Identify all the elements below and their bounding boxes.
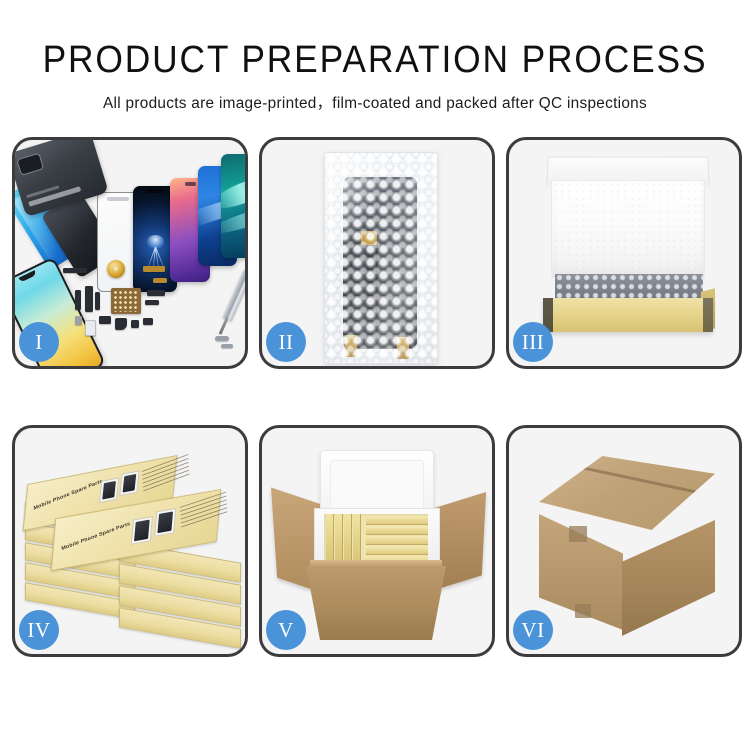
box-spec-lines <box>142 454 190 492</box>
step-panel-1: I <box>12 137 248 369</box>
yellow-box <box>366 536 428 545</box>
spare-part <box>95 292 100 310</box>
phone-teal-swirl <box>221 154 245 258</box>
spare-part <box>75 290 81 310</box>
spare-part-connector <box>85 320 96 336</box>
chip-ball-grid <box>113 290 139 312</box>
step-panel-6: VI <box>506 425 742 657</box>
box-label-text: Mobile Phone Spare Parts <box>61 521 130 552</box>
step-panel-3: III <box>506 137 742 369</box>
spare-part-flex <box>153 278 167 283</box>
carton-right-face <box>622 520 715 636</box>
carton-top-face <box>539 456 715 530</box>
step-badge-3: III <box>513 322 553 362</box>
bubble-wrap-bag <box>324 152 438 364</box>
phone-notch <box>18 270 36 282</box>
box-product-image <box>119 470 139 496</box>
header: PRODUCT PREPARATION PROCESS All products… <box>0 0 750 113</box>
spare-part <box>99 316 111 324</box>
spare-part-metal <box>75 316 82 325</box>
step-6-illustration: VI <box>509 428 739 654</box>
carton-body <box>306 566 446 640</box>
yellow-box <box>335 514 343 564</box>
yellow-box <box>353 514 361 564</box>
phone-back-shell <box>15 140 109 217</box>
box-label-text: Mobile Phone Spare Parts <box>33 478 102 511</box>
yellow-box <box>366 546 428 555</box>
spare-part <box>63 268 87 273</box>
page-subtitle: All products are image-printed，film-coat… <box>4 91 747 113</box>
carton-seam <box>568 464 706 496</box>
page-title: PRODUCT PREPARATION PROCESS <box>26 40 724 80</box>
step-3-illustration: III <box>509 140 739 366</box>
box-product-image <box>154 508 176 537</box>
yellow-box <box>366 516 428 525</box>
step-5-illustration: V <box>262 428 492 654</box>
yellow-box <box>366 526 428 535</box>
wallpaper-swoosh <box>221 205 245 238</box>
box-corner-tab <box>703 298 713 332</box>
yellow-box <box>326 514 334 564</box>
yellow-box <box>344 514 352 564</box>
box-product-image <box>99 477 119 503</box>
carton-tape-patch <box>569 526 587 542</box>
spare-part-screw <box>221 344 233 348</box>
spare-part-flex <box>143 266 165 272</box>
step-badge-5: V <box>266 610 306 650</box>
spare-part <box>131 320 139 328</box>
spare-part <box>143 318 153 325</box>
process-steps-grid: I II <box>12 137 738 689</box>
step-badge-4: IV <box>19 610 59 650</box>
wallpaper-swoosh <box>221 172 245 215</box>
step-panel-2: II <box>259 137 495 369</box>
step-badge-2: II <box>266 322 306 362</box>
copper-coil-part <box>107 260 125 278</box>
camera-module <box>16 153 44 176</box>
spare-part <box>145 300 159 305</box>
white-foam-sheet <box>551 180 705 278</box>
yellow-boxes-inside <box>324 514 428 564</box>
step-badge-6: VI <box>513 610 553 650</box>
spare-part-screw <box>215 336 229 341</box>
spare-part <box>115 318 127 330</box>
step-1-illustration: I <box>15 140 245 366</box>
plastic-sheen <box>325 153 437 363</box>
step-4-illustration: Mobile Phone Spare Parts Mobile Phone Sp… <box>15 428 245 654</box>
tweezers-tool <box>222 268 245 321</box>
bga-chip-part <box>111 288 141 314</box>
phone-notch <box>185 182 196 186</box>
product-preparation-infographic: PRODUCT PREPARATION PROCESS All products… <box>0 0 750 750</box>
box-spec-lines <box>180 492 228 529</box>
kraft-box-front <box>543 298 713 332</box>
step-badge-1: I <box>19 322 59 362</box>
retail-box-stack: Mobile Phone Spare Parts Mobile Phone Sp… <box>21 448 245 644</box>
carton-tape-patch <box>575 604 591 618</box>
spare-part <box>85 286 93 312</box>
step-panel-5: V <box>259 425 495 657</box>
step-panel-4: Mobile Phone Spare Parts Mobile Phone Sp… <box>12 425 248 657</box>
spare-part <box>147 290 165 296</box>
step-2-illustration: II <box>262 140 492 366</box>
box-product-image <box>131 516 153 545</box>
phone-notch <box>146 189 164 193</box>
